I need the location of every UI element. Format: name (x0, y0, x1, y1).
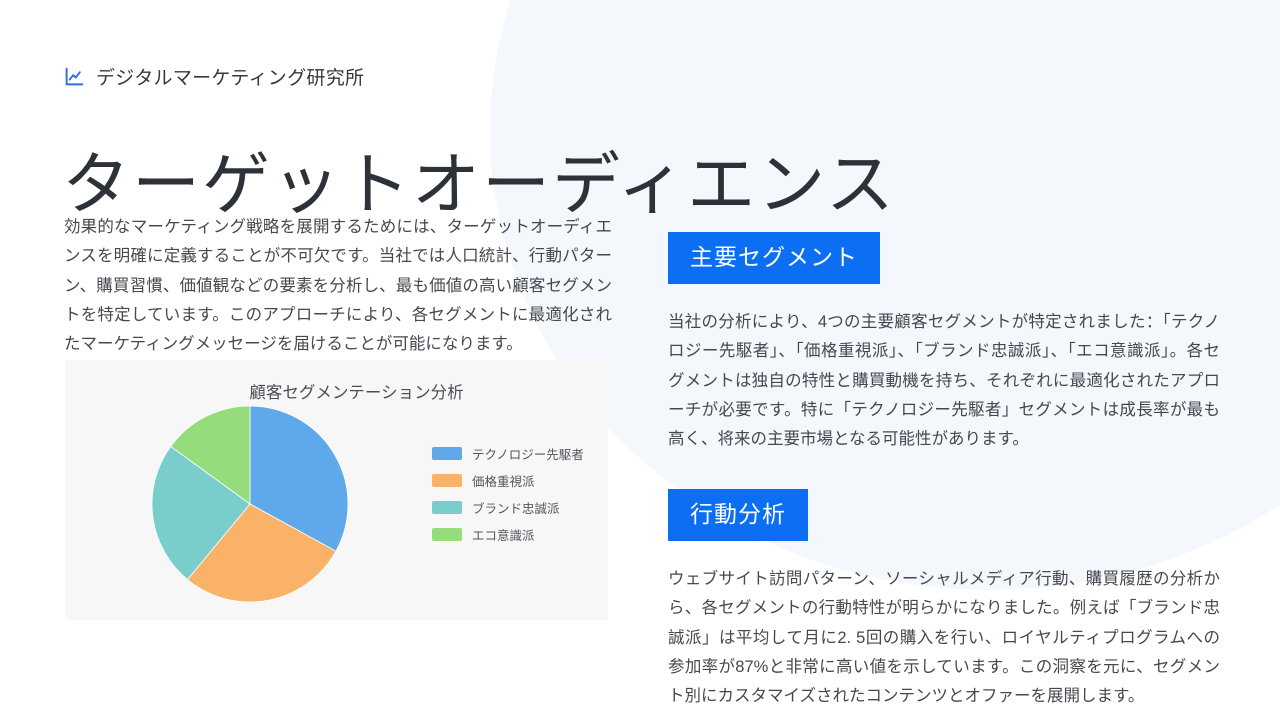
legend-label: エコ意識派 (472, 525, 535, 544)
pie-chart (152, 406, 348, 602)
legend-item[interactable]: エコ意識派 (432, 525, 584, 544)
legend-label: ブランド忠誠派 (472, 498, 560, 517)
line-chart-icon (64, 66, 85, 87)
legend-item[interactable]: 価格重視派 (432, 471, 584, 490)
legend-swatch (432, 474, 462, 487)
section-heading-behavior: 行動分析 (668, 489, 808, 541)
chart-legend: テクノロジー先駆者価格重視派ブランド忠誠派エコ意識派 (432, 444, 584, 544)
pie-slices (152, 406, 348, 602)
section-body-behavior: ウェブサイト訪問パターン、ソーシャルメディア行動、購買履歴の分析から、各セグメン… (668, 565, 1220, 712)
intro-paragraph: 効果的なマーケティング戦略を展開するためには、ターゲットオーディエンスを明確に定… (64, 213, 612, 360)
legend-item[interactable]: テクノロジー先駆者 (432, 444, 584, 463)
brand-name: デジタルマーケティング研究所 (96, 63, 364, 90)
intro-column: 効果的なマーケティング戦略を展開するためには、ターゲットオーディエンスを明確に定… (64, 213, 612, 360)
section-heading-segments: 主要セグメント (668, 232, 880, 284)
legend-swatch (432, 447, 462, 460)
detail-column: 主要セグメント 当社の分析により、4つの主要顧客セグメントが特定されました：「テ… (668, 232, 1220, 712)
legend-label: 価格重視派 (472, 471, 535, 490)
legend-label: テクノロジー先駆者 (472, 444, 584, 463)
section-behavior: 行動分析 ウェブサイト訪問パターン、ソーシャルメディア行動、購買履歴の分析から、… (668, 489, 1220, 712)
legend-swatch (432, 528, 462, 541)
legend-swatch (432, 501, 462, 514)
chart-card: 顧客セグメンテーション分析 テクノロジー先駆者価格重視派ブランド忠誠派エコ意識派 (65, 360, 608, 620)
section-segments: 主要セグメント 当社の分析により、4つの主要顧客セグメントが特定されました：「テ… (668, 232, 1220, 455)
page-title: ターゲットオーディエンス (62, 149, 896, 222)
brand: デジタルマーケティング研究所 (64, 63, 364, 90)
section-body-segments: 当社の分析により、4つの主要顧客セグメントが特定されました：「テクノロジー先駆者… (668, 308, 1220, 455)
legend-item[interactable]: ブランド忠誠派 (432, 498, 584, 517)
chart-title: 顧客セグメンテーション分析 (65, 379, 608, 403)
slide-page: デジタルマーケティング研究所 ターゲットオーディエンス 効果的なマーケティング戦… (0, 0, 1280, 720)
